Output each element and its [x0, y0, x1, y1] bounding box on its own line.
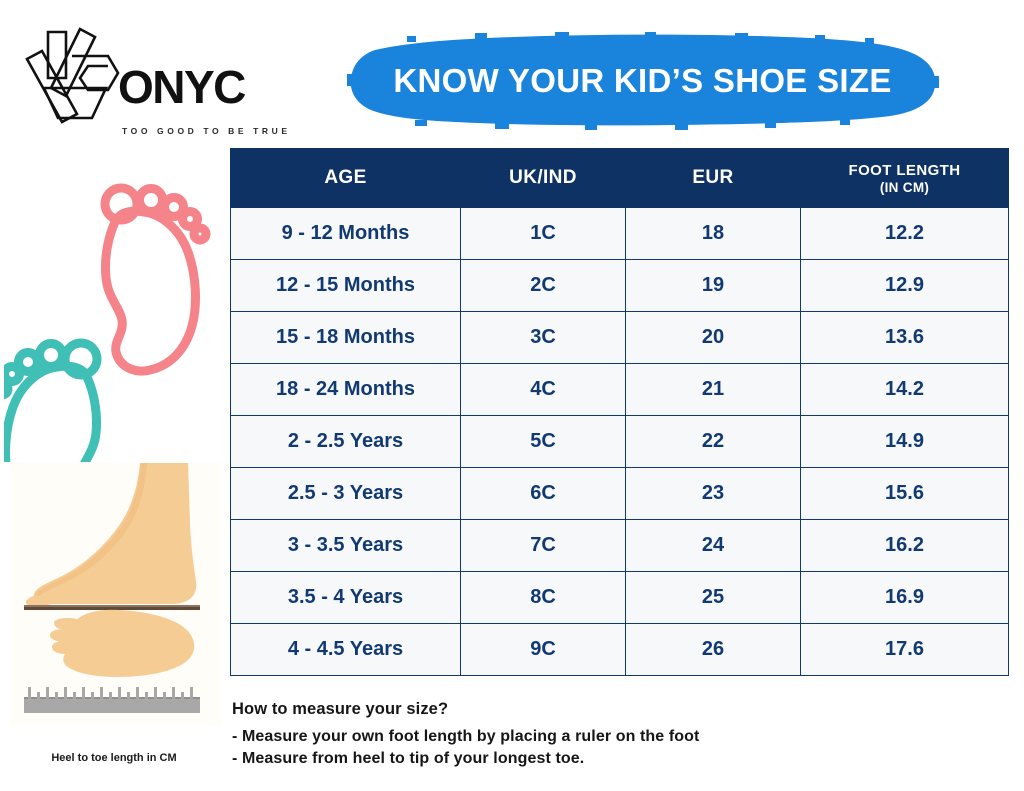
column-header-foot-length: FOOT LENGTH (IN CM) — [801, 149, 1009, 208]
brand-tagline: TOO GOOD TO BE TRUE — [122, 126, 291, 136]
brand-wordmark: ONYC — [118, 64, 245, 110]
cell-eur: 19 — [626, 260, 801, 312]
baby-footprint-right-icon — [105, 188, 206, 371]
banner-title: KNOW YOUR KID’S SHOE SIZE — [345, 62, 940, 100]
cell-uk-ind: 8C — [461, 572, 626, 624]
cell-eur: 18 — [626, 208, 801, 260]
cell-foot-length: 12.2 — [801, 208, 1009, 260]
table-row: 9 - 12 Months1C1812.2 — [231, 208, 1009, 260]
how-to-measure-title: How to measure your size? — [232, 700, 832, 719]
cell-foot-length: 12.9 — [801, 260, 1009, 312]
brand-logo: ONYC TOO GOOD TO BE TRUE — [22, 26, 282, 131]
cell-eur: 21 — [626, 364, 801, 416]
ruler-caption: Heel to toe length in CM — [0, 752, 228, 764]
how-to-measure-section: How to measure your size? - Measure your… — [232, 700, 832, 769]
cell-foot-length: 14.2 — [801, 364, 1009, 416]
table-row: 15 - 18 Months3C2013.6 — [231, 312, 1009, 364]
cell-eur: 20 — [626, 312, 801, 364]
column-header-eur-label: EUR — [626, 167, 800, 189]
shoe-size-table: AGE UK/IND EUR FOOT LENGTH (IN CM) 9 - 1… — [230, 148, 1009, 676]
banner: KNOW YOUR KID’S SHOE SIZE — [345, 30, 940, 130]
cell-uk-ind: 9C — [461, 624, 626, 676]
cell-eur: 24 — [626, 520, 801, 572]
onyc-monogram-icon — [22, 26, 122, 126]
cell-foot-length: 17.6 — [801, 624, 1009, 676]
table-row: 4 - 4.5 Years9C2617.6 — [231, 624, 1009, 676]
foot-measurement-illustration — [10, 463, 222, 725]
cell-eur: 25 — [626, 572, 801, 624]
table-row: 2.5 - 3 Years6C2315.6 — [231, 468, 1009, 520]
cell-age: 3.5 - 4 Years — [231, 572, 461, 624]
cell-eur: 23 — [626, 468, 801, 520]
cell-foot-length: 14.9 — [801, 416, 1009, 468]
baby-footprint-left-icon — [4, 343, 97, 462]
cell-uk-ind: 7C — [461, 520, 626, 572]
column-header-eur: EUR — [626, 149, 801, 208]
cell-age: 9 - 12 Months — [231, 208, 461, 260]
cell-foot-length: 16.2 — [801, 520, 1009, 572]
cell-uk-ind: 1C — [461, 208, 626, 260]
table-header-row: AGE UK/IND EUR FOOT LENGTH (IN CM) — [231, 149, 1009, 208]
cell-foot-length: 16.9 — [801, 572, 1009, 624]
cell-uk-ind: 4C — [461, 364, 626, 416]
table-row: 3.5 - 4 Years8C2516.9 — [231, 572, 1009, 624]
cell-eur: 26 — [626, 624, 801, 676]
cell-age: 12 - 15 Months — [231, 260, 461, 312]
column-header-uk-ind: UK/IND — [461, 149, 626, 208]
cell-age: 18 - 24 Months — [231, 364, 461, 416]
cell-foot-length: 13.6 — [801, 312, 1009, 364]
cell-uk-ind: 5C — [461, 416, 626, 468]
column-header-uk-ind-label: UK/IND — [461, 167, 625, 189]
table-row: 3 - 3.5 Years7C2416.2 — [231, 520, 1009, 572]
column-header-age-label: AGE — [231, 167, 460, 189]
cell-uk-ind: 6C — [461, 468, 626, 520]
cell-uk-ind: 3C — [461, 312, 626, 364]
table-body: 9 - 12 Months1C1812.212 - 15 Months2C191… — [231, 208, 1009, 676]
cell-foot-length: 15.6 — [801, 468, 1009, 520]
column-header-foot-length-unit: (IN CM) — [801, 180, 1008, 195]
shoe-size-chart-page: ONYC TOO GOOD TO BE TRUE KNOW YOUR KID’S… — [0, 0, 1024, 791]
column-header-age: AGE — [231, 149, 461, 208]
cell-age: 15 - 18 Months — [231, 312, 461, 364]
cell-age: 3 - 3.5 Years — [231, 520, 461, 572]
table-row: 12 - 15 Months2C1912.9 — [231, 260, 1009, 312]
how-to-measure-line-1: - Measure your own foot length by placin… — [232, 726, 832, 748]
cell-age: 2.5 - 3 Years — [231, 468, 461, 520]
table-row: 2 - 2.5 Years5C2214.9 — [231, 416, 1009, 468]
cell-age: 2 - 2.5 Years — [231, 416, 461, 468]
baby-footprints-illustration — [4, 162, 224, 462]
how-to-measure-line-2: - Measure from heel to tip of your longe… — [232, 748, 832, 770]
column-header-foot-length-label: FOOT LENGTH — [801, 162, 1008, 179]
table-row: 18 - 24 Months4C2114.2 — [231, 364, 1009, 416]
cell-uk-ind: 2C — [461, 260, 626, 312]
cell-age: 4 - 4.5 Years — [231, 624, 461, 676]
cell-eur: 22 — [626, 416, 801, 468]
